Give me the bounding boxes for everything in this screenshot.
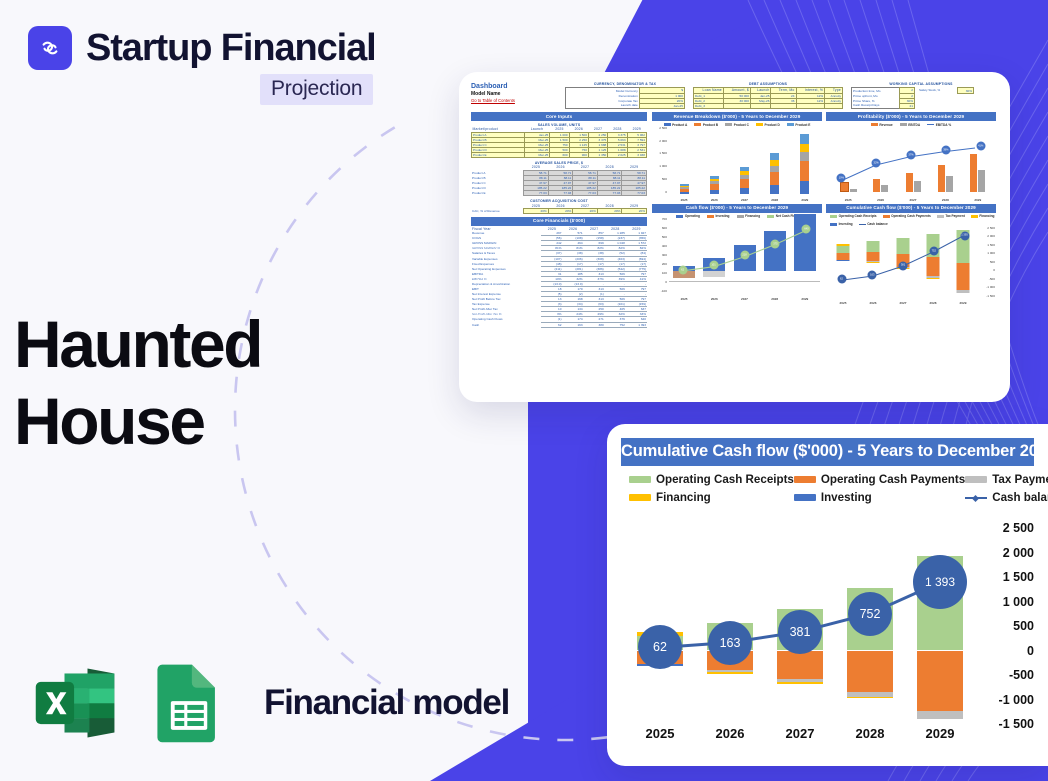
x-tick: 2026: [711, 198, 718, 202]
legend-label: Tax Payment: [992, 473, 1048, 486]
y-tick: 500: [662, 235, 667, 239]
dashboard-preview-card[interactable]: Dashboard Model Name Go to Table of Cont…: [459, 72, 1010, 402]
data-label: 62: [678, 265, 687, 274]
x-tick: 2028: [930, 301, 937, 305]
legend-item: Investing: [707, 214, 730, 218]
cell-value: 77.03: [548, 191, 573, 196]
table-row[interactable]: Product EMar-256009001 3502 0253 038: [472, 152, 647, 157]
mini-chart-title: Revenue Breakdown ($'000) - 5 Years to D…: [652, 112, 822, 121]
y-tick: 2 500: [1003, 521, 1034, 535]
cell-value[interactable]: 30%: [958, 88, 974, 94]
format-badges: Financial model: [30, 657, 509, 749]
legend-swatch: [629, 476, 651, 483]
cash-balance-bubble[interactable]: 1 393: [913, 555, 967, 609]
y-tick: 0: [1027, 644, 1034, 658]
table-row: Net Profit Before Tax13168313506797: [471, 297, 647, 302]
y-tick: 1 000: [1003, 595, 1034, 609]
x-tick: 2028: [942, 198, 949, 202]
legend-item-tax-payment: Tax Payment: [965, 473, 1048, 486]
cash-balance-bubble[interactable]: 381: [778, 610, 822, 654]
chart-plot-area: 621633817521 393: [625, 528, 975, 724]
legend-line-marker: [965, 497, 987, 499]
x-tick: 2028: [835, 726, 905, 741]
brand-logo-icon: [28, 26, 72, 70]
currency-block-title: CURRENCY, DENOMINATOR & TAX: [565, 82, 685, 86]
y-tick: 0: [993, 268, 995, 272]
legend-item: EBITDA %: [927, 123, 951, 127]
brand-header: Startup Financial: [28, 26, 376, 70]
cell-value[interactable]: 900: [569, 152, 588, 157]
mini-chart-title: Cumulative Cash flow ($'000) - 5 Years t…: [826, 204, 996, 213]
data-label: 101: [709, 261, 718, 270]
legend-label: Operating Cash Receipts: [656, 473, 794, 486]
y-tick: 1 500: [987, 243, 995, 247]
legend-item: Product C: [725, 123, 749, 127]
legend-item-investing: Investing: [794, 491, 965, 504]
y-tick: -500: [1009, 668, 1034, 682]
cell-value: 77.03: [622, 191, 647, 196]
x-tick: 2027: [741, 297, 748, 301]
y-tick: 2 000: [1003, 546, 1034, 560]
y-tick: -500: [989, 277, 995, 281]
table-row: Net Operating Expenses(211)(281)(386)(54…: [471, 266, 647, 271]
cell-label: Safety Stock, %: [918, 88, 958, 94]
data-label: 62: [837, 275, 846, 284]
legend-label: Financing: [656, 491, 711, 504]
y-tick: 700: [662, 217, 667, 221]
mini-chart-revenue-breakdown[interactable]: Revenue Breakdown ($'000) - 5 Years to D…: [652, 112, 822, 202]
y-tick: 300: [662, 253, 667, 257]
legend-item-cash-balance: Cash balance: [965, 491, 1048, 504]
mini-chart-legend: Revenue EBITDA EBITDA %: [826, 123, 996, 127]
cash-balance-bubble[interactable]: 62: [638, 625, 682, 669]
legend-item: Cash balance: [859, 222, 888, 226]
chart-y-axis: 2 5002 0001 5001 0005000-500-1 000-1 500: [972, 528, 1034, 724]
y-tick: 2 500: [659, 126, 667, 130]
brand-title: Startup Financial: [86, 29, 376, 67]
x-tick: 2025: [681, 297, 688, 301]
data-label: 381: [899, 261, 908, 270]
legend-item: Operating Cash Payments: [883, 214, 931, 218]
y-tick: 2 500: [987, 226, 995, 230]
chart-legend: Operating Cash Receipts Operating Cash P…: [629, 473, 1026, 504]
x-tick: 2027: [741, 198, 748, 202]
y-tick: -1 500: [999, 717, 1034, 731]
dashboard-toc-link[interactable]: Go to Table of Contents: [471, 98, 557, 104]
cell-value[interactable]: 20%: [573, 209, 598, 214]
cell-label: Launch date: [566, 103, 640, 108]
cell-value[interactable]: Jan-25: [639, 103, 684, 108]
table-row: Product E77.0377.0377.0377.0377.03: [471, 191, 647, 196]
dashboard-header: Dashboard Model Name Go to Table of Cont…: [471, 82, 557, 103]
cell-value: 77.03: [524, 191, 549, 196]
y-tick: 400: [662, 244, 667, 248]
cell-value[interactable]: 1 350: [588, 152, 607, 157]
x-tick: 2026: [695, 726, 765, 741]
product-title-line2: House: [14, 383, 404, 460]
mini-chart-title: Profitability ($'000) - 5 Years to Decem…: [826, 112, 996, 121]
table-row: Net Profit After Tax %3%24%29%32%33%: [471, 312, 647, 317]
table-row: Operating Cash Flows(1)174271376640: [471, 317, 647, 322]
y-tick: 2 000: [659, 139, 667, 143]
data-label: 752: [929, 247, 938, 256]
cell-value: 77.03: [597, 191, 622, 196]
table-row: Variable Expenses(107)(206)(308)(463)(69…: [471, 256, 647, 261]
y-tick: 2 000: [987, 234, 995, 238]
x-tick: 2029: [801, 297, 808, 301]
legend-item: Financing: [737, 214, 761, 218]
microsoft-excel-icon: [30, 657, 122, 749]
cell-label: Cash Receipt Days: [852, 103, 900, 108]
y-tick: 1 500: [1003, 570, 1034, 584]
legend-label: Operating Cash Payments: [821, 473, 965, 486]
mini-chart-profitability[interactable]: Profitability ($'000) - 5 Years to Decem…: [826, 112, 996, 202]
y-tick: 0: [665, 190, 667, 194]
table-row: GROSS MARGIN %81%81%82%82%82%: [471, 246, 647, 251]
y-tick: 200: [662, 262, 667, 266]
google-sheets-icon: [144, 657, 236, 749]
x-tick: 2026: [877, 198, 884, 202]
data-label: 218: [740, 251, 749, 260]
cell-value[interactable]: 21: [900, 103, 915, 108]
x-tick: 2025: [840, 301, 847, 305]
legend-item: Product D: [756, 123, 780, 127]
x-tick: 2027: [910, 198, 917, 202]
legend-item: Investing: [830, 222, 853, 226]
x-tick: 2026: [711, 297, 718, 301]
legend-item: Tax Payment: [937, 214, 965, 218]
legend-item: Revenue: [871, 123, 893, 127]
poster-canvas: Startup Financial Projection Haunted Hou…: [0, 0, 1048, 781]
legend-swatch: [629, 494, 651, 501]
x-tick: 2025: [625, 726, 695, 741]
cell-value[interactable]: Debt_3: [694, 104, 724, 109]
x-tick: 2025: [681, 198, 688, 202]
legend-item-operating-cash-receipts: Operating Cash Receipts: [629, 473, 794, 486]
x-tick: 2029: [801, 198, 808, 202]
row-label: CAC, % of Revenue: [471, 209, 524, 214]
debt-block-title: DEBT ASSUMPTIONS: [693, 82, 843, 86]
x-tick: 2027: [765, 726, 835, 741]
brand-subtitle-chip: Projection: [260, 74, 373, 105]
table-row: EBITDA %10%32%37%39%41%: [471, 276, 647, 281]
legend-swatch: [794, 494, 816, 501]
y-tick: 500: [662, 177, 667, 181]
format-badges-label: Financial model: [264, 683, 509, 723]
chart-x-axis: 20252026202720282029: [625, 726, 975, 741]
wc-block-title: WORKING CAPITAL ASSUMPTIONS: [851, 82, 991, 86]
avg-price-table: 2025 2026 2027 2028 2029 Product A58.715…: [471, 165, 647, 196]
mini-chart-cash-flow[interactable]: Cash flow ($'000) - 5 Years to December …: [652, 204, 822, 306]
legend-item: Product B: [694, 123, 718, 127]
x-tick: 2028: [771, 297, 778, 301]
x-tick: 2028: [771, 198, 778, 202]
table-row[interactable]: CAC, % of Revenue 20% 20% 20% 20% 20%: [471, 209, 647, 214]
data-label: 41%: [976, 142, 985, 151]
legend-item: Financing: [971, 214, 995, 218]
x-tick: 2029: [974, 198, 981, 202]
data-label: 375: [771, 239, 780, 248]
chart-title: Cumulative Cash flow ($'000) - 5 Years t…: [621, 438, 1034, 466]
table-row: Cash621633807521 393: [471, 322, 647, 327]
legend-swatch: [794, 476, 816, 483]
legend-item-financing: Financing: [629, 491, 794, 504]
mini-chart-title: Cash flow ($'000) - 5 Years to December …: [652, 204, 822, 213]
legend-label: Investing: [821, 491, 872, 504]
x-tick: 2026: [870, 301, 877, 305]
x-tick: 2029: [960, 301, 967, 305]
y-tick: 1 000: [987, 251, 995, 255]
cell-value[interactable]: Mar-25: [524, 152, 550, 157]
legend-item-operating-cash-payments: Operating Cash Payments: [794, 473, 965, 486]
legend-label: Cash balance: [992, 491, 1048, 504]
spreadsheet-dashboard: Dashboard Model Name Go to Table of Cont…: [459, 72, 1010, 402]
product-title: Haunted House: [14, 306, 404, 459]
currency-block: CURRENCY, DENOMINATOR & TAX Model Curren…: [565, 82, 685, 109]
mini-chart-legend: Operating Cash Receipts Operating Cash P…: [826, 214, 996, 226]
y-tick: -1 000: [986, 285, 995, 289]
legend-item: Operating: [676, 214, 700, 218]
cac-table: 2025 2026 2027 2028 2029 CAC, % of Reven…: [471, 204, 647, 215]
cell-value: 77.03: [573, 191, 598, 196]
y-tick: 500: [1013, 619, 1034, 633]
y-tick: -1 000: [999, 693, 1034, 707]
legend-swatch: [965, 476, 987, 483]
x-tick: 2027: [900, 301, 907, 305]
product-title-line1: Haunted: [14, 306, 404, 383]
mini-chart-cumulative-cash-flow[interactable]: Cumulative Cash flow ($'000) - 5 Years t…: [826, 204, 996, 306]
y-tick: 500: [990, 260, 995, 264]
core-financials-band: Core Financials ($'000): [471, 217, 647, 226]
data-label: 1 393: [960, 231, 969, 240]
data-label: 32%: [872, 159, 881, 168]
y-tick: 0: [665, 280, 667, 284]
core-inputs-band: Core Inputs: [471, 112, 647, 121]
x-tick: 2025: [845, 198, 852, 202]
cash-balance-bubble[interactable]: 163: [708, 621, 752, 665]
data-label: 10%: [837, 174, 846, 183]
row-label: Product E: [471, 191, 524, 196]
data-label: 39%: [941, 145, 950, 154]
legend-item: Product E: [787, 123, 811, 127]
y-tick: -100: [661, 289, 667, 293]
sales-volume-table: Market/product Launch 2025 2026 2027 202…: [471, 127, 647, 158]
x-tick: 2029: [905, 726, 975, 741]
debt-assumptions-block: DEBT ASSUMPTIONS Loan Name Amount, $ Lau…: [693, 82, 843, 109]
data-label: 37%: [907, 151, 916, 160]
y-tick: 1 500: [659, 151, 667, 155]
row-label: Product E: [472, 152, 525, 157]
legend-item: Operating Cash Receipts: [830, 214, 877, 218]
dashboard-model-name: Model Name: [471, 91, 557, 98]
cell-value[interactable]: 2 025: [608, 152, 627, 157]
cell-value[interactable]: 20%: [524, 209, 549, 214]
data-label: 640: [802, 225, 811, 234]
cell-value[interactable]: 20%: [548, 209, 573, 214]
cash-balance-bubble[interactable]: 752: [848, 592, 892, 636]
y-tick: 1 000: [659, 164, 667, 168]
dashboard-title: Dashboard: [471, 82, 557, 91]
working-capital-block: WORKING CAPITAL ASSUMPTIONS Production t…: [851, 82, 991, 109]
cell-value[interactable]: 600: [550, 152, 569, 157]
cumulative-cashflow-chart-card[interactable]: Cumulative Cash flow ($'000) - 5 Years t…: [607, 424, 1048, 766]
cell-value[interactable]: 3 038: [627, 152, 646, 157]
y-tick: -1 500: [986, 294, 995, 298]
cell-value[interactable]: 20%: [622, 209, 647, 214]
mini-chart-legend: Product A Product B Product C Product D …: [652, 123, 822, 127]
cell-value[interactable]: 20%: [597, 209, 622, 214]
core-financials-table: Fiscal Year20252026202720282029Revenue29…: [471, 227, 647, 328]
legend-item: EBITDA: [900, 123, 920, 127]
y-tick: 100: [662, 271, 667, 275]
data-label: 163: [868, 271, 877, 280]
y-tick: 600: [662, 226, 667, 230]
